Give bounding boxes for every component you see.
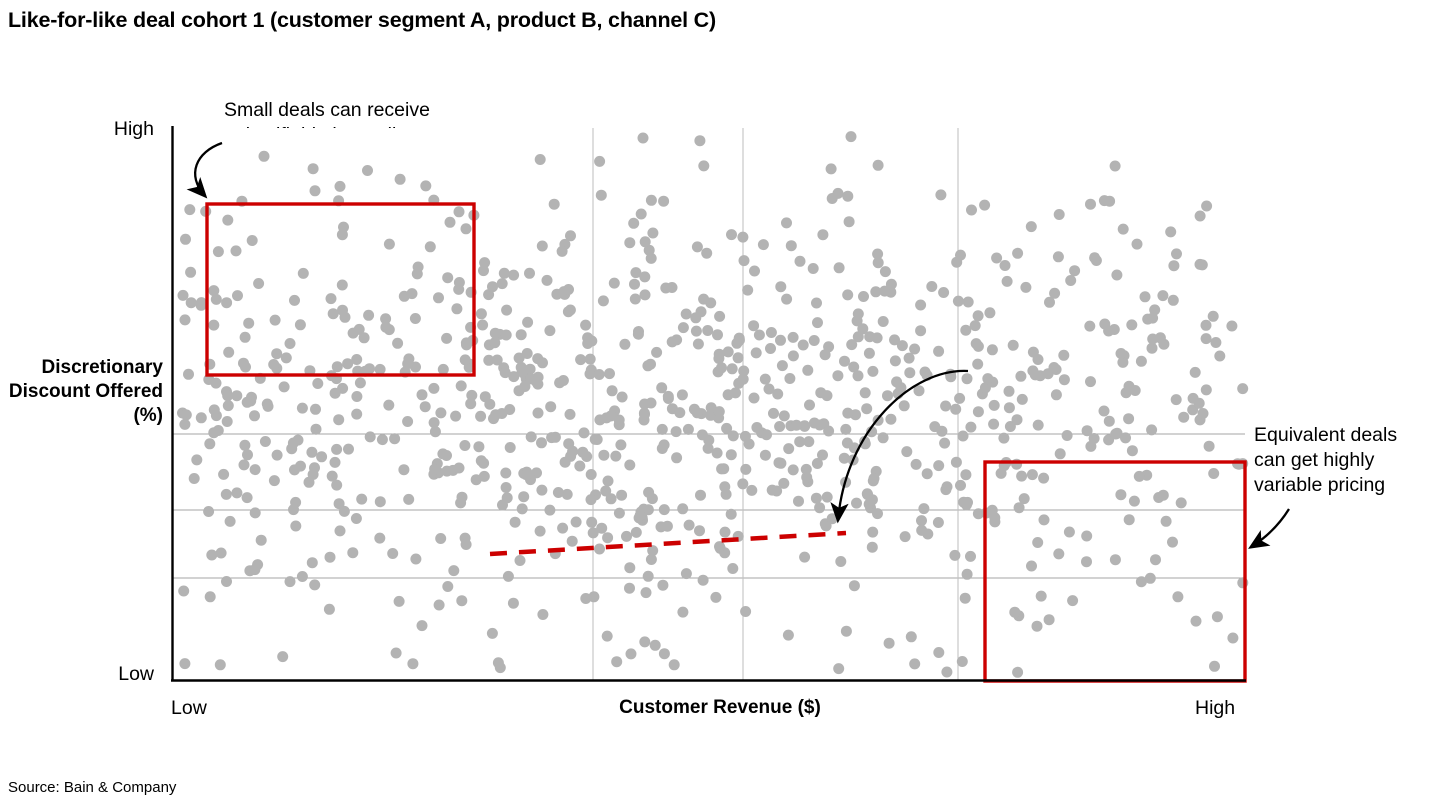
scatter-point xyxy=(417,620,428,631)
scatter-point xyxy=(1188,393,1199,404)
scatter-point xyxy=(614,419,625,430)
scatter-point xyxy=(1039,514,1050,525)
scatter-point xyxy=(181,409,192,420)
scatter-point xyxy=(922,468,933,479)
scatter-point xyxy=(609,278,620,289)
scatter-point xyxy=(953,296,964,307)
scatter-point xyxy=(332,361,343,372)
scatter-point xyxy=(1065,275,1076,286)
scatter-point xyxy=(740,464,751,475)
scatter-point xyxy=(760,374,771,385)
scatter-point xyxy=(557,523,568,534)
scatter-point xyxy=(781,294,792,305)
scatter-point xyxy=(501,305,512,316)
scatter-point xyxy=(939,438,950,449)
scatter-point xyxy=(751,422,762,433)
scatter-point xyxy=(189,473,200,484)
scatter-point xyxy=(880,266,891,277)
scatter-point xyxy=(1069,265,1080,276)
scatter-point xyxy=(624,460,635,471)
scatter-point xyxy=(926,281,937,292)
scatter-point xyxy=(768,408,779,419)
scatter-point xyxy=(954,393,965,404)
scatter-point xyxy=(288,438,299,449)
scatter-point xyxy=(410,313,421,324)
scatter-point xyxy=(834,262,845,273)
scatter-point xyxy=(960,325,971,336)
scatter-point xyxy=(522,317,533,328)
scatter-point xyxy=(915,300,926,311)
scatter-point xyxy=(833,188,844,199)
scatter-point xyxy=(1032,537,1043,548)
scatter-point xyxy=(1019,493,1030,504)
scatter-point xyxy=(738,366,749,377)
scatter-point xyxy=(713,353,724,364)
scatter-point xyxy=(535,526,546,537)
scatter-point xyxy=(1085,376,1096,387)
scatter-point xyxy=(221,489,232,500)
scatter-point xyxy=(795,256,806,267)
scatter-point xyxy=(249,564,260,575)
scatter-point xyxy=(330,388,341,399)
scatter-point xyxy=(304,477,315,488)
scatter-point xyxy=(864,348,875,359)
scatter-point xyxy=(477,320,488,331)
scatter-point xyxy=(391,648,402,659)
scatter-point xyxy=(582,338,593,349)
scatter-point xyxy=(951,257,962,268)
scatter-point xyxy=(454,277,465,288)
scatter-point xyxy=(920,367,931,378)
scatter-point xyxy=(801,464,812,475)
scatter-point xyxy=(793,496,804,507)
scatter-point xyxy=(862,488,873,499)
scatter-point xyxy=(514,385,525,396)
scatter-point xyxy=(647,228,658,239)
scatter-point xyxy=(501,330,512,341)
scatter-point xyxy=(596,190,607,201)
scatter-point xyxy=(636,507,647,518)
scatter-point xyxy=(671,426,682,437)
scatter-point xyxy=(308,469,319,480)
scatter-point xyxy=(560,457,571,468)
scatter-point xyxy=(311,424,322,435)
scatter-point xyxy=(604,368,615,379)
scatter-point xyxy=(740,606,751,617)
scatter-point xyxy=(916,525,927,536)
scatter-point xyxy=(864,499,875,510)
scatter-point xyxy=(448,465,459,476)
scatter-point xyxy=(479,471,490,482)
scatter-point xyxy=(355,377,366,388)
scatter-point xyxy=(817,450,828,461)
scatter-point xyxy=(1013,610,1024,621)
scatter-point xyxy=(499,268,510,279)
scatter-point xyxy=(884,638,895,649)
scatter-point xyxy=(1161,516,1172,527)
scatter-point xyxy=(1145,573,1156,584)
scatter-point xyxy=(203,374,214,385)
scatter-point xyxy=(450,411,461,422)
scatter-point xyxy=(646,253,657,264)
scatter-point xyxy=(334,498,345,509)
scatter-point xyxy=(304,365,315,376)
scatter-point xyxy=(466,287,477,298)
y-axis-tick-low: Low xyxy=(0,663,163,686)
scatter-point xyxy=(667,336,678,347)
scatter-point xyxy=(536,485,547,496)
scatter-point xyxy=(351,409,362,420)
scatter-point xyxy=(1085,199,1096,210)
scatter-point xyxy=(935,189,946,200)
scatter-point xyxy=(532,353,543,364)
scatter-point xyxy=(1089,433,1100,444)
scatter-point xyxy=(407,288,418,299)
scatter-point xyxy=(186,297,197,308)
scatter-point xyxy=(1091,255,1102,266)
scatter-point xyxy=(701,248,712,259)
scatter-point xyxy=(713,412,724,423)
scatter-point xyxy=(330,457,341,468)
scatter-point xyxy=(242,397,253,408)
scatter-point xyxy=(962,373,973,384)
scatter-point xyxy=(826,163,837,174)
scatter-point xyxy=(781,217,792,228)
scatter-point xyxy=(702,325,713,336)
scatter-point xyxy=(1012,414,1023,425)
scatter-point xyxy=(767,485,778,496)
scatter-point xyxy=(517,503,528,514)
scatter-point xyxy=(785,420,796,431)
scatter-point xyxy=(765,343,776,354)
scatter-point xyxy=(478,458,489,469)
scatter-point xyxy=(238,358,249,369)
scatter-point xyxy=(441,466,452,477)
scatter-point xyxy=(600,486,611,497)
scatter-point xyxy=(343,444,354,455)
scatter-point xyxy=(865,502,876,513)
scatter-point xyxy=(1208,311,1219,322)
scatter-point xyxy=(525,373,536,384)
scatter-point xyxy=(870,286,881,297)
scatter-point xyxy=(309,579,320,590)
scatter-point xyxy=(1198,408,1209,419)
scatter-point xyxy=(1081,556,1092,567)
scatter-point xyxy=(922,529,933,540)
scatter-point xyxy=(441,333,452,344)
scatter-point xyxy=(487,628,498,639)
scatter-point xyxy=(1110,161,1121,172)
scatter-point xyxy=(849,580,860,591)
scatter-point xyxy=(225,516,236,527)
scatter-point xyxy=(403,353,414,364)
scatter-point xyxy=(200,206,211,217)
scatter-point xyxy=(553,487,564,498)
scatter-point xyxy=(720,527,731,538)
scatter-point xyxy=(594,414,605,425)
scatter-point xyxy=(1150,554,1161,565)
scatter-point xyxy=(628,218,639,229)
scatter-point xyxy=(476,455,487,466)
scatter-point xyxy=(961,499,972,510)
scatter-point xyxy=(588,527,599,538)
scatter-point xyxy=(988,419,999,430)
scatter-point xyxy=(871,466,882,477)
scatter-point xyxy=(383,400,394,411)
scatter-point xyxy=(636,209,647,220)
scatter-point xyxy=(726,229,737,240)
scatter-point xyxy=(460,354,471,365)
scatter-point xyxy=(977,388,988,399)
scatter-point xyxy=(696,408,707,419)
scatter-point xyxy=(726,449,737,460)
scatter-point xyxy=(962,569,973,580)
scatter-point xyxy=(502,492,513,503)
scatter-point xyxy=(586,336,597,347)
scatter-point xyxy=(761,429,772,440)
scatter-point xyxy=(1124,381,1135,392)
scatter-point xyxy=(698,160,709,171)
scatter-point xyxy=(637,515,648,526)
scatter-point xyxy=(844,216,855,227)
scatter-point xyxy=(515,555,526,566)
scatter-point xyxy=(841,626,852,637)
scatter-point xyxy=(465,398,476,409)
scatter-point xyxy=(205,591,216,602)
scatter-point xyxy=(262,399,273,410)
scatter-point xyxy=(448,565,459,576)
scatter-point xyxy=(208,320,219,331)
scatter-point xyxy=(1081,531,1092,542)
scatter-point xyxy=(852,315,863,326)
scatter-point xyxy=(518,491,529,502)
scatter-point xyxy=(728,430,739,441)
scatter-point xyxy=(544,505,555,516)
scatter-point xyxy=(206,550,217,561)
scatter-point xyxy=(196,412,207,423)
scatter-point xyxy=(402,416,413,427)
scatter-point xyxy=(1112,428,1123,439)
scatter-point xyxy=(326,293,337,304)
scatter-point xyxy=(384,324,395,335)
scatter-point xyxy=(723,346,734,357)
scatter-point xyxy=(788,332,799,343)
scatter-point xyxy=(706,402,717,413)
scatter-point xyxy=(760,450,771,461)
scatter-point xyxy=(524,268,535,279)
scatter-point xyxy=(922,370,933,381)
scatter-point xyxy=(742,285,753,296)
scatter-point xyxy=(208,427,219,438)
scatter-point xyxy=(1226,321,1237,332)
scatter-point xyxy=(331,480,342,491)
scatter-point xyxy=(689,404,700,415)
scatter-point xyxy=(683,424,694,435)
scatter-point xyxy=(240,332,251,343)
scatter-point xyxy=(714,311,725,322)
scatter-point xyxy=(259,151,270,162)
scatter-point xyxy=(475,411,486,422)
scatter-point xyxy=(842,289,853,300)
scatter-point xyxy=(467,335,478,346)
scatter-point xyxy=(714,406,725,417)
scatter-point xyxy=(1190,367,1201,378)
scatter-point xyxy=(204,438,215,449)
scatter-point xyxy=(958,431,969,442)
scatter-point xyxy=(846,131,857,142)
scatter-point xyxy=(989,400,1000,411)
scatter-point xyxy=(650,640,661,651)
scatter-point xyxy=(375,364,386,375)
scatter-point xyxy=(868,475,879,486)
scatter-point xyxy=(853,370,864,381)
scatter-point xyxy=(716,362,727,373)
scatter-point xyxy=(1171,248,1182,259)
scatter-point xyxy=(933,647,944,658)
scatter-point xyxy=(494,329,505,340)
callout-arrow-small-deals xyxy=(195,143,222,196)
scatter-point xyxy=(624,583,635,594)
scatter-point xyxy=(963,297,974,308)
scatter-point xyxy=(738,374,749,385)
scatter-point xyxy=(484,399,495,410)
scatter-point xyxy=(571,517,582,528)
scatter-point xyxy=(727,563,738,574)
scatter-point xyxy=(878,432,889,443)
scatter-point xyxy=(734,335,745,346)
scatter-point xyxy=(558,286,569,297)
scatter-point xyxy=(631,527,642,538)
x-axis-title: Customer Revenue ($) xyxy=(0,697,1440,719)
scatter-point xyxy=(325,552,336,563)
scatter-point xyxy=(749,266,760,277)
scatter-point xyxy=(461,539,472,550)
scatter-point xyxy=(517,366,528,377)
scatter-point xyxy=(563,284,574,295)
scatter-point xyxy=(216,548,227,559)
scatter-point xyxy=(1227,633,1238,644)
scatter-point xyxy=(814,502,825,513)
scatter-point xyxy=(590,434,601,445)
scatter-point xyxy=(252,559,263,570)
scatter-point xyxy=(643,487,654,498)
scatter-point xyxy=(359,332,370,343)
scatter-point xyxy=(240,362,251,373)
scatter-point xyxy=(1002,276,1013,287)
scatter-point xyxy=(1176,497,1187,508)
scatter-point xyxy=(641,587,652,598)
scatter-point xyxy=(786,240,797,251)
scatter-point xyxy=(550,548,561,559)
scatter-point xyxy=(563,306,574,317)
scatter-point xyxy=(950,404,961,415)
scatter-point xyxy=(933,346,944,357)
scatter-point xyxy=(614,415,625,426)
scatter-point xyxy=(850,409,861,420)
scatter-point xyxy=(598,450,609,461)
scatter-point xyxy=(610,451,621,462)
scatter-point xyxy=(306,447,317,458)
scatter-point xyxy=(885,287,896,298)
scatter-point xyxy=(428,383,439,394)
scatter-point xyxy=(516,362,527,373)
scatter-point xyxy=(602,631,613,642)
scatter-point xyxy=(862,489,873,500)
scatter-point xyxy=(250,507,261,518)
scatter-point xyxy=(1064,527,1075,538)
scatter-point xyxy=(713,366,724,377)
scatter-point xyxy=(211,294,222,305)
scatter-point xyxy=(882,390,893,401)
scatter-point xyxy=(609,405,620,416)
scatter-point xyxy=(678,322,689,333)
scatter-point xyxy=(435,533,446,544)
scatter-point xyxy=(307,557,318,568)
scatter-point xyxy=(270,315,281,326)
scatter-point xyxy=(909,658,920,669)
scatter-point xyxy=(488,413,499,424)
scatter-point xyxy=(815,387,826,398)
scatter-point xyxy=(1118,224,1129,235)
scatter-point xyxy=(1036,591,1047,602)
scatter-point xyxy=(338,222,349,233)
scatter-point xyxy=(656,521,667,532)
scatter-point xyxy=(239,440,250,451)
scatter-point xyxy=(253,278,264,289)
scatter-point xyxy=(500,468,511,479)
scatter-point xyxy=(521,469,532,480)
scatter-point xyxy=(647,545,658,556)
scatter-point xyxy=(1032,621,1043,632)
scatter-point xyxy=(758,239,769,250)
scatter-point xyxy=(1168,295,1179,306)
scatter-point xyxy=(955,480,966,491)
scatter-point xyxy=(1011,459,1022,470)
scatter-point xyxy=(624,562,635,573)
scatter-point xyxy=(537,609,548,620)
scatter-point xyxy=(263,401,274,412)
scatter-point xyxy=(532,379,543,390)
scatter-point xyxy=(389,433,400,444)
scatter-point xyxy=(703,435,714,446)
scatter-point xyxy=(721,423,732,434)
scatter-point xyxy=(634,512,645,523)
scatter-point xyxy=(1016,471,1027,482)
scatter-point xyxy=(457,492,468,503)
scatter-point xyxy=(677,389,688,400)
scatter-point xyxy=(1208,468,1219,479)
scatter-point xyxy=(579,427,590,438)
scatter-point xyxy=(639,408,650,419)
scatter-point xyxy=(962,497,973,508)
highlight-box-equivalent-deals xyxy=(985,462,1245,681)
scatter-point xyxy=(695,490,706,501)
scatter-point xyxy=(598,295,609,306)
scatter-point xyxy=(351,354,362,365)
scatter-point xyxy=(514,353,525,364)
scatter-point xyxy=(842,438,853,449)
scatter-point xyxy=(1017,394,1028,405)
scatter-point xyxy=(508,270,519,281)
scatter-point xyxy=(533,408,544,419)
scatter-point xyxy=(554,377,565,388)
scatter-point xyxy=(403,494,414,505)
scatter-point xyxy=(723,389,734,400)
scatter-point xyxy=(399,291,410,302)
scatter-point xyxy=(918,503,929,514)
scatter-point xyxy=(518,468,529,479)
scatter-point xyxy=(249,410,260,421)
